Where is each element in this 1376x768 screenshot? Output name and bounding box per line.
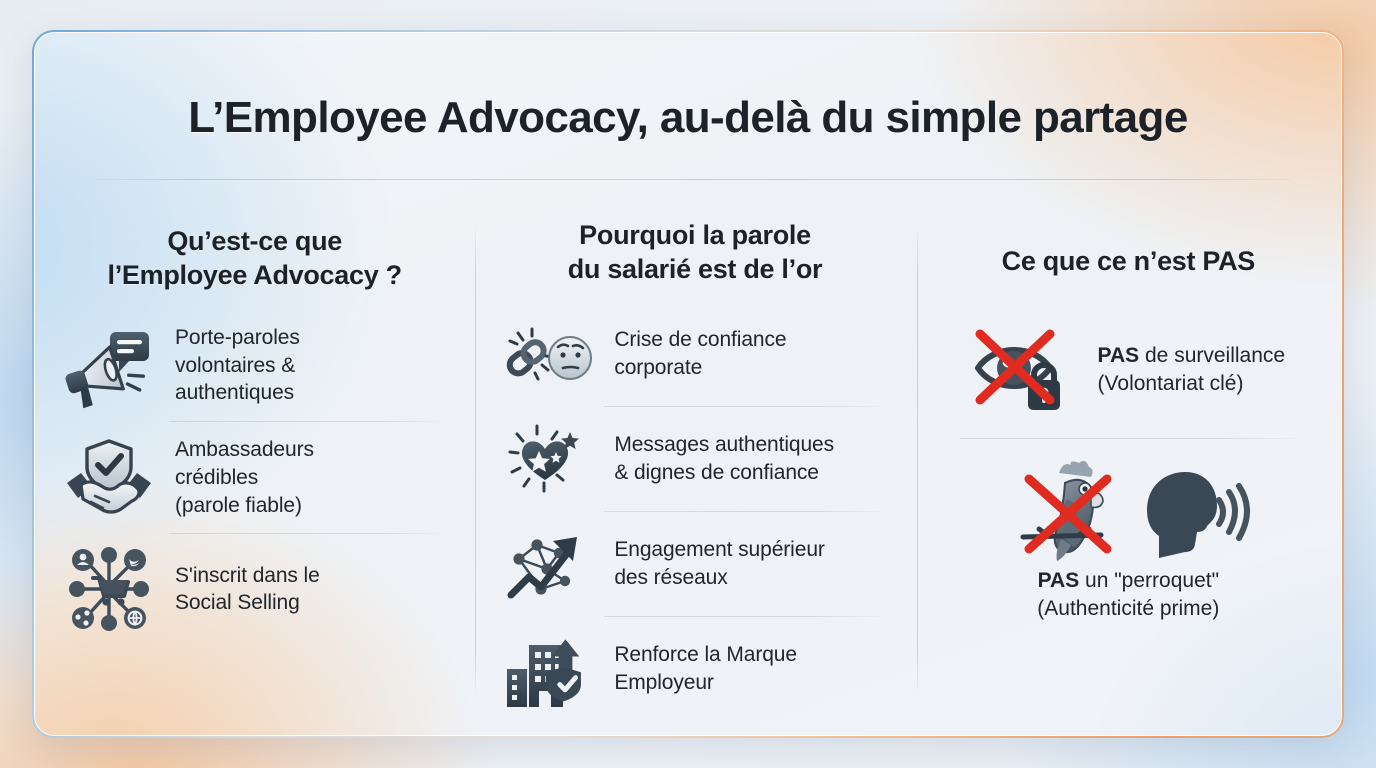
list-item: PAS de surveillance (Volontariat clé) [942, 312, 1315, 424]
list-item: Engagement supérieur des réseaux [500, 512, 889, 616]
column-what-it-is-not: Ce que ce n’est PAS [916, 198, 1341, 713]
item-line-3: authentiques [175, 381, 294, 404]
building-shield-arrow-icon [500, 628, 596, 710]
title-divider [89, 179, 1291, 180]
network-growth-arrow-icon [500, 523, 596, 605]
list-item-text: Renforce la Marque Employeur [614, 641, 797, 696]
speaking-head-icon [1137, 466, 1241, 558]
list-item-text: Porte-paroles volontaires & authentiques [175, 324, 300, 407]
column-what-heading-line2: l’Employee Advocacy ? [108, 260, 402, 290]
list-item-text: Messages authentiques & dignes de confia… [614, 431, 834, 486]
page-title: L’Employee Advocacy, au-delà du simple p… [35, 93, 1341, 143]
item-line-2: Social Selling [175, 591, 300, 614]
list-item-text: PAS un "perroquet" (Authenticité prime) [1037, 567, 1219, 623]
column-what-is-employee-advocacy: Qu’est-ce que l’Employee Advocacy ? [35, 198, 474, 713]
column-not-items: PAS de surveillance (Volontariat clé) [942, 312, 1315, 631]
item-line-2: des réseaux [614, 566, 727, 589]
item-line-2: & dignes de confiance [614, 461, 819, 484]
eye-lock-crossed-out-icon [972, 320, 1082, 416]
item-emphasis: PAS [1038, 569, 1080, 592]
column-not-heading: Ce que ce n’est PAS [942, 244, 1315, 278]
item-emphasis: PAS [1098, 344, 1140, 367]
column-what-heading-line1: Qu’est-ce que [167, 226, 342, 256]
item-line-1: Engagement supérieur [614, 538, 824, 561]
list-item: PAS un "perroquet" (Authenticité prime) [942, 453, 1315, 631]
list-item: Porte-paroles volontaires & authentiques [61, 310, 448, 421]
megaphone-speech-bubble-icon [61, 325, 157, 407]
item-line-3: (parole fiable) [175, 494, 302, 517]
list-item-text: Engagement supérieur des réseaux [614, 536, 824, 591]
list-item: Ambassadeurs crédibles (parole fiable) [61, 422, 448, 533]
list-item: Renforce la Marque Employeur [500, 617, 889, 721]
infographic-card: L’Employee Advocacy, au-delà du simple p… [34, 32, 1342, 736]
item-line-1: Renforce la Marque [614, 643, 797, 666]
list-item: Crise de confiance corporate [500, 302, 889, 406]
item-line-1: un "perroquet" [1079, 569, 1219, 592]
sparkling-heart-star-icon [500, 418, 596, 500]
handshake-shield-check-icon [61, 437, 157, 519]
column-why-items: Crise de confiance corporate [500, 302, 889, 721]
list-item-text: PAS de surveillance (Volontariat clé) [1098, 342, 1286, 398]
infographic-card-frame: L’Employee Advocacy, au-delà du simple p… [32, 30, 1344, 738]
item-line-1: Porte-paroles [175, 326, 300, 349]
item-line-2: (Authenticité prime) [1037, 597, 1219, 620]
item-line-2: volontaires & [175, 354, 295, 377]
item-separator [960, 438, 1297, 439]
item-line-1: Ambassadeurs [175, 438, 314, 461]
item-line-1: S'inscrit dans le [175, 564, 320, 587]
columns-container: Qu’est-ce que l’Employee Advocacy ? [35, 198, 1341, 713]
column-why-employee-voice-matters: Pourquoi la parole du salarié est de l’o… [474, 198, 915, 713]
column-why-heading-line2: du salarié est de l’or [568, 254, 823, 284]
column-why-heading-line1: Pourquoi la parole [579, 220, 811, 250]
item-line-2: corporate [614, 356, 702, 379]
list-item: Messages authentiques & dignes de confia… [500, 407, 889, 511]
page-background: L’Employee Advocacy, au-delà du simple p… [0, 0, 1376, 768]
column-why-heading: Pourquoi la parole du salarié est de l’o… [500, 218, 889, 286]
item-line-1: Crise de confiance [614, 328, 786, 351]
list-item-text: Crise de confiance corporate [614, 326, 786, 381]
parrot-crossed-out-icon [1015, 461, 1121, 563]
item-line-1: de surveillance [1139, 344, 1285, 367]
social-selling-network-cart-icon [61, 548, 157, 630]
item-line-1: Messages authentiques [614, 433, 834, 456]
column-what-heading: Qu’est-ce que l’Employee Advocacy ? [61, 224, 448, 292]
column-what-items: Porte-paroles volontaires & authentiques [61, 310, 448, 644]
item-line-2: crédibles [175, 466, 258, 489]
list-item-text: S'inscrit dans le Social Selling [175, 562, 320, 617]
list-item-text: Ambassadeurs crédibles (parole fiable) [175, 436, 314, 519]
item-line-2: Employeur [614, 671, 713, 694]
item-line-2: (Volontariat clé) [1098, 372, 1244, 395]
list-item: S'inscrit dans le Social Selling [61, 534, 448, 644]
broken-chain-skeptical-face-icon [500, 313, 596, 395]
